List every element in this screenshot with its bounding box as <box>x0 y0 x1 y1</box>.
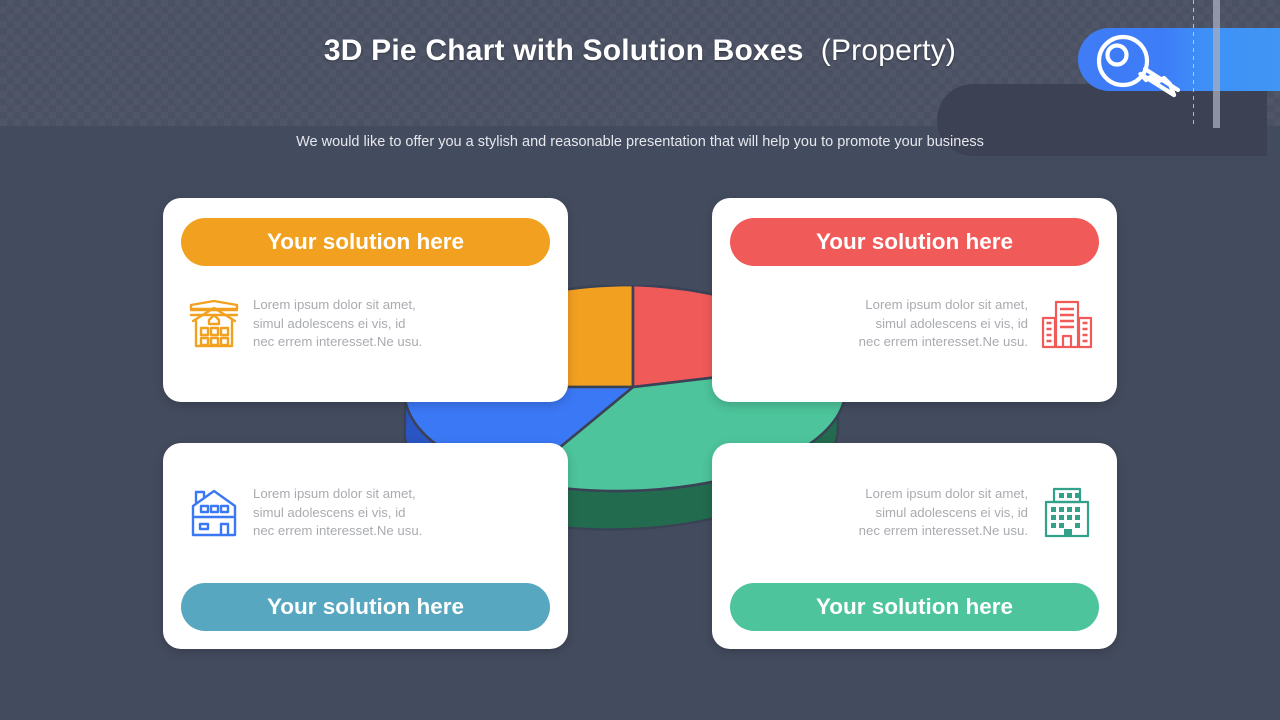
solution-pill-label: Your solution here <box>267 594 464 620</box>
page-title: 3D Pie Chart with Solution Boxes (Proper… <box>0 34 1280 68</box>
card-body-text: Lorem ipsum dolor sit amet, simul adoles… <box>858 485 1028 541</box>
page-title-main: 3D Pie Chart with Solution Boxes <box>324 34 804 67</box>
card-content-row: Lorem ipsum dolor sit amet, simul adoles… <box>734 485 1094 541</box>
city-buildings-icon <box>1040 297 1094 351</box>
solution-card-bottom-right[interactable]: Lorem ipsum dolor sit amet, simul adoles… <box>712 443 1117 649</box>
card-content-row: Lorem ipsum dolor sit amet, simul adoles… <box>187 485 547 541</box>
card-body-text: Lorem ipsum dolor sit amet, simul adoles… <box>253 296 423 352</box>
solution-card-top-left[interactable]: Your solution here Lorem ipsum <box>163 198 568 402</box>
office-building-icon <box>1040 486 1094 540</box>
solution-pill-bottom-right[interactable]: Your solution here <box>730 583 1099 631</box>
solution-pill-label: Your solution here <box>816 229 1013 255</box>
solution-card-bottom-left[interactable]: Lorem ipsum dolor sit amet, simul adoles… <box>163 443 568 649</box>
card-content-row: Lorem ipsum dolor sit amet, simul adoles… <box>187 296 547 352</box>
solution-card-top-right[interactable]: Your solution here Lorem ipsum dolor sit… <box>712 198 1117 402</box>
solution-pill-bottom-left[interactable]: Your solution here <box>181 583 550 631</box>
solution-pill-top-right[interactable]: Your solution here <box>730 218 1099 266</box>
card-content-row: Lorem ipsum dolor sit amet, simul adoles… <box>734 296 1094 352</box>
page-subtitle: We would like to offer you a stylish and… <box>0 134 1280 150</box>
page-title-parenthetical: (Property) <box>821 34 956 67</box>
warehouse-icon <box>187 486 241 540</box>
solution-pill-label: Your solution here <box>816 594 1013 620</box>
solution-pill-top-left[interactable]: Your solution here <box>181 218 550 266</box>
slide-canvas: 3D Pie Chart with Solution Boxes (Proper… <box>0 0 1280 720</box>
solution-pill-label: Your solution here <box>267 229 464 255</box>
card-body-text: Lorem ipsum dolor sit amet, simul adoles… <box>858 296 1028 352</box>
house-icon <box>187 297 241 351</box>
card-body-text: Lorem ipsum dolor sit amet, simul adoles… <box>253 485 423 541</box>
